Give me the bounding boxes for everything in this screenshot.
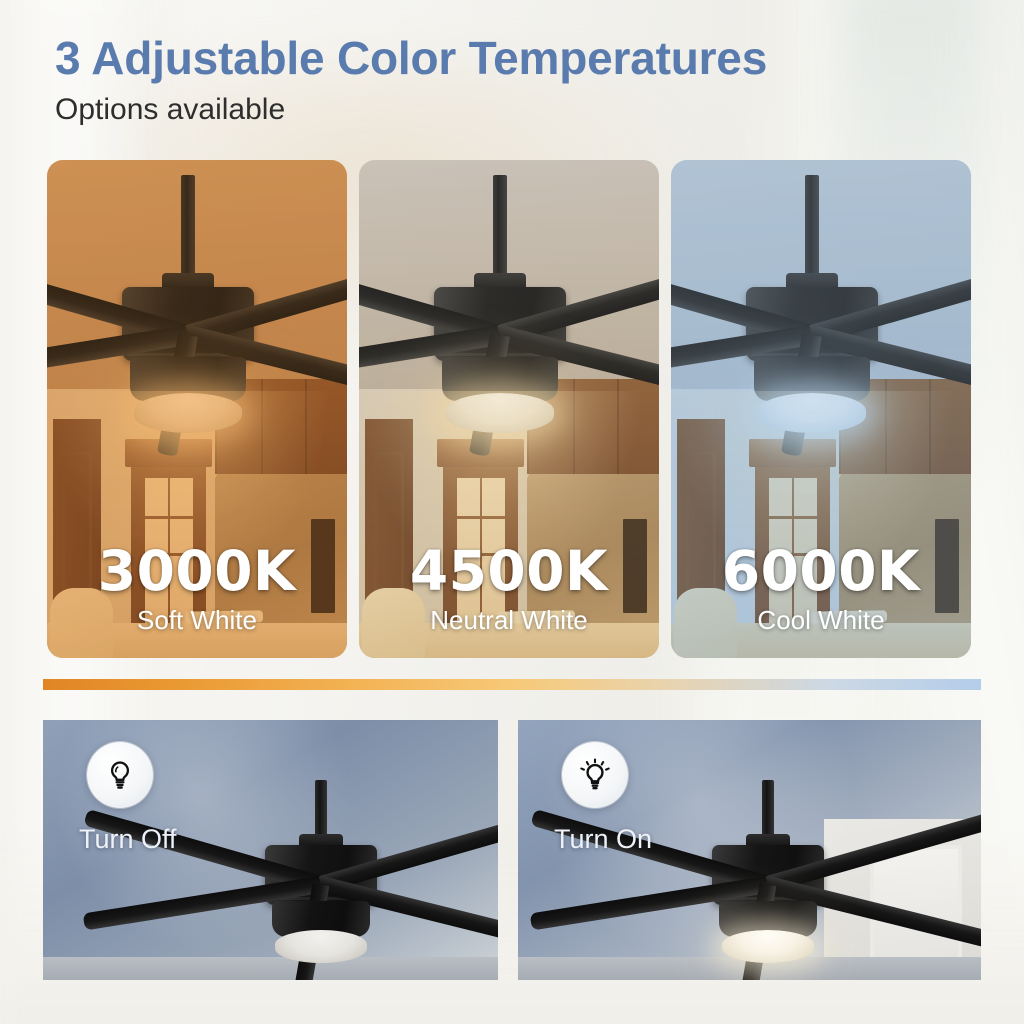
card-caption-3000k: 3000K Soft White — [47, 544, 347, 636]
light-off-badge[interactable]: Turn Off — [87, 742, 177, 855]
temperature-card-row: 3000K Soft White — [47, 160, 977, 658]
kelvin-name: Neutral White — [359, 605, 659, 636]
light-state-card-off[interactable]: Turn Off — [43, 720, 498, 980]
kelvin-value: 4500K — [359, 544, 659, 599]
bulb-on-icon — [562, 742, 628, 808]
product-infographic: 3 Adjustable Color Temperatures Options … — [0, 0, 1024, 1024]
kelvin-name: Cool White — [671, 605, 971, 636]
card-caption-4500k: 4500K Neutral White — [359, 544, 659, 636]
kelvin-value: 3000K — [47, 544, 347, 599]
light-off-label: Turn Off — [79, 824, 177, 855]
gradient-divider — [43, 679, 981, 690]
light-state-row: Turn Off — [43, 720, 981, 980]
page-subtitle: Options available — [55, 93, 767, 127]
kelvin-name: Soft White — [47, 605, 347, 636]
temperature-card-4500k[interactable]: 4500K Neutral White — [359, 160, 659, 658]
light-state-card-on[interactable]: Turn On — [518, 720, 981, 980]
header: 3 Adjustable Color Temperatures Options … — [55, 34, 767, 127]
page-title: 3 Adjustable Color Temperatures — [55, 34, 767, 83]
kelvin-value: 6000K — [671, 544, 971, 599]
temperature-card-6000k[interactable]: 6000K Cool White — [671, 160, 971, 658]
temperature-card-3000k[interactable]: 3000K Soft White — [47, 160, 347, 658]
light-on-label: Turn On — [554, 824, 652, 855]
light-on-badge[interactable]: Turn On — [562, 742, 652, 855]
bulb-off-icon — [87, 742, 153, 808]
card-caption-6000k: 6000K Cool White — [671, 544, 971, 636]
